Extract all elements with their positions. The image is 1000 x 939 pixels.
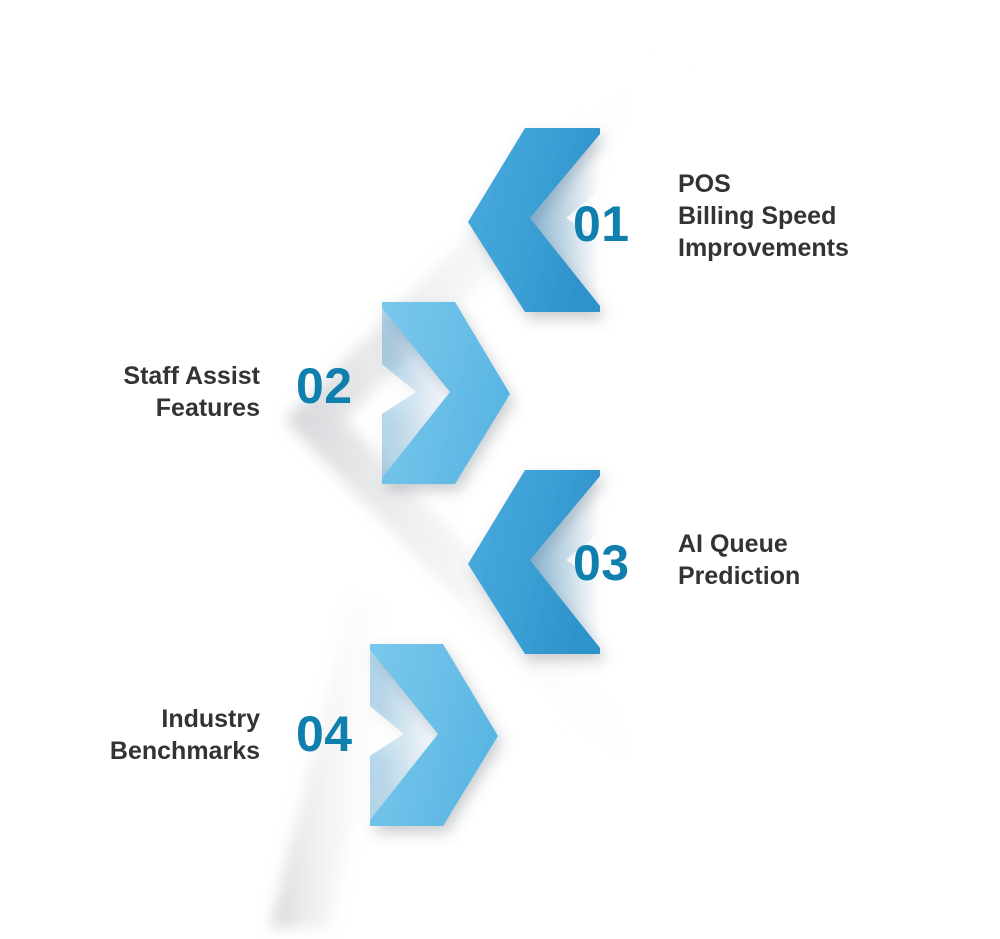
step-number-02: 02 [296, 361, 353, 411]
step-number-01: 01 [573, 199, 630, 249]
step-number-04: 04 [296, 709, 353, 759]
infographic-canvas: 01 POS Billing Speed Improvements 02 Sta… [0, 0, 1000, 939]
step-label-02: Staff Assist Features [20, 360, 260, 424]
step-label-04: Industry Benchmarks [20, 703, 260, 767]
step-number-03: 03 [573, 538, 630, 588]
chevron-02[interactable] [382, 302, 510, 484]
step-label-01: POS Billing Speed Improvements [678, 168, 849, 264]
step-label-03: AI Queue Prediction [678, 528, 800, 592]
chevron-graphics-layer [0, 0, 1000, 939]
chevron-04[interactable] [370, 644, 498, 826]
